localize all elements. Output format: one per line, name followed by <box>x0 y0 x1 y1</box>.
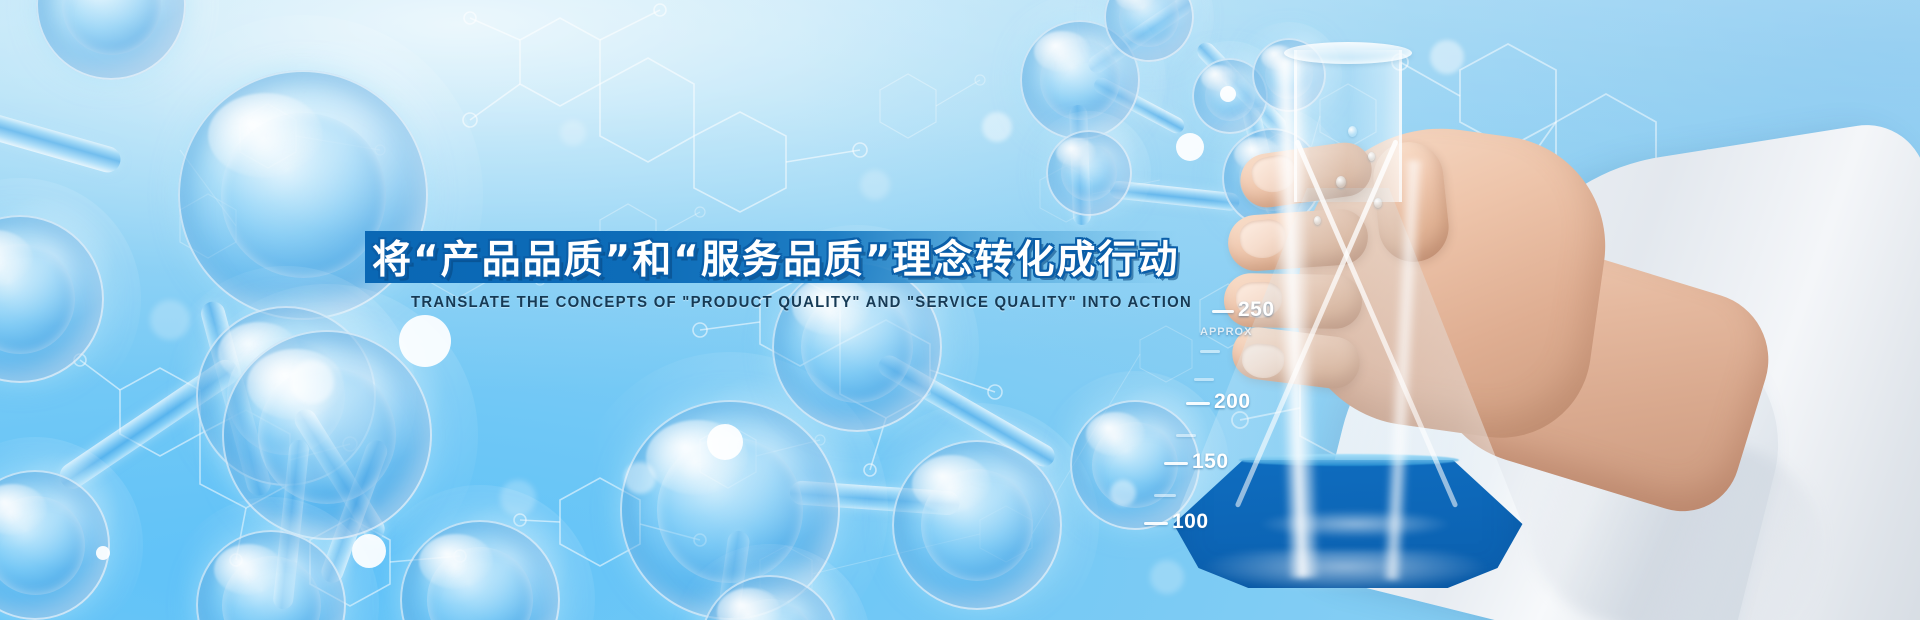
page-title: 将“产品品质”和“服务品质”理念转化成行动 <box>372 227 1212 287</box>
flask-base-sheen <box>1200 550 1490 592</box>
molecule-sphere <box>892 440 1062 610</box>
flask-tick-100 <box>1144 522 1168 525</box>
water-droplet <box>1374 198 1382 208</box>
scientist-holding-flask: 250 APPROX 200 150 100 <box>1180 0 1920 620</box>
flask-tick-250 <box>1212 310 1234 313</box>
water-droplet <box>1314 216 1321 225</box>
liquid-surface <box>1239 454 1459 466</box>
erlenmeyer-flask: 250 APPROX 200 150 100 <box>1160 10 1580 620</box>
molecule-sphere <box>772 262 942 432</box>
hero-banner: 250 APPROX 200 150 100 将“产品品质”和“服务品质”理念转… <box>0 0 1920 620</box>
flask-tick-minor <box>1154 494 1176 497</box>
molecule-sphere <box>1046 130 1132 216</box>
flask-tick-150 <box>1164 462 1188 465</box>
flask-tick-minor <box>1176 434 1196 437</box>
flask-graduation-150: 150 <box>1192 450 1229 474</box>
flask-lip <box>1284 42 1412 64</box>
flask-graduation-100: 100 <box>1172 510 1209 534</box>
water-droplet <box>1368 152 1375 161</box>
water-droplet <box>1348 126 1357 137</box>
flask-graduation-200: 200 <box>1214 390 1251 414</box>
flask-graduation-250-note: APPROX <box>1200 326 1252 338</box>
page-subtitle: TRANSLATE THE CONCEPTS OF "PRODUCT QUALI… <box>411 294 1192 312</box>
flask-tick-minor <box>1194 378 1214 381</box>
flask-graduation-250: 250 <box>1238 298 1275 322</box>
flask-tick-200 <box>1186 402 1210 405</box>
water-droplet <box>1336 176 1346 188</box>
molecule-sphere <box>222 330 432 540</box>
flask-tick-minor <box>1200 350 1220 353</box>
